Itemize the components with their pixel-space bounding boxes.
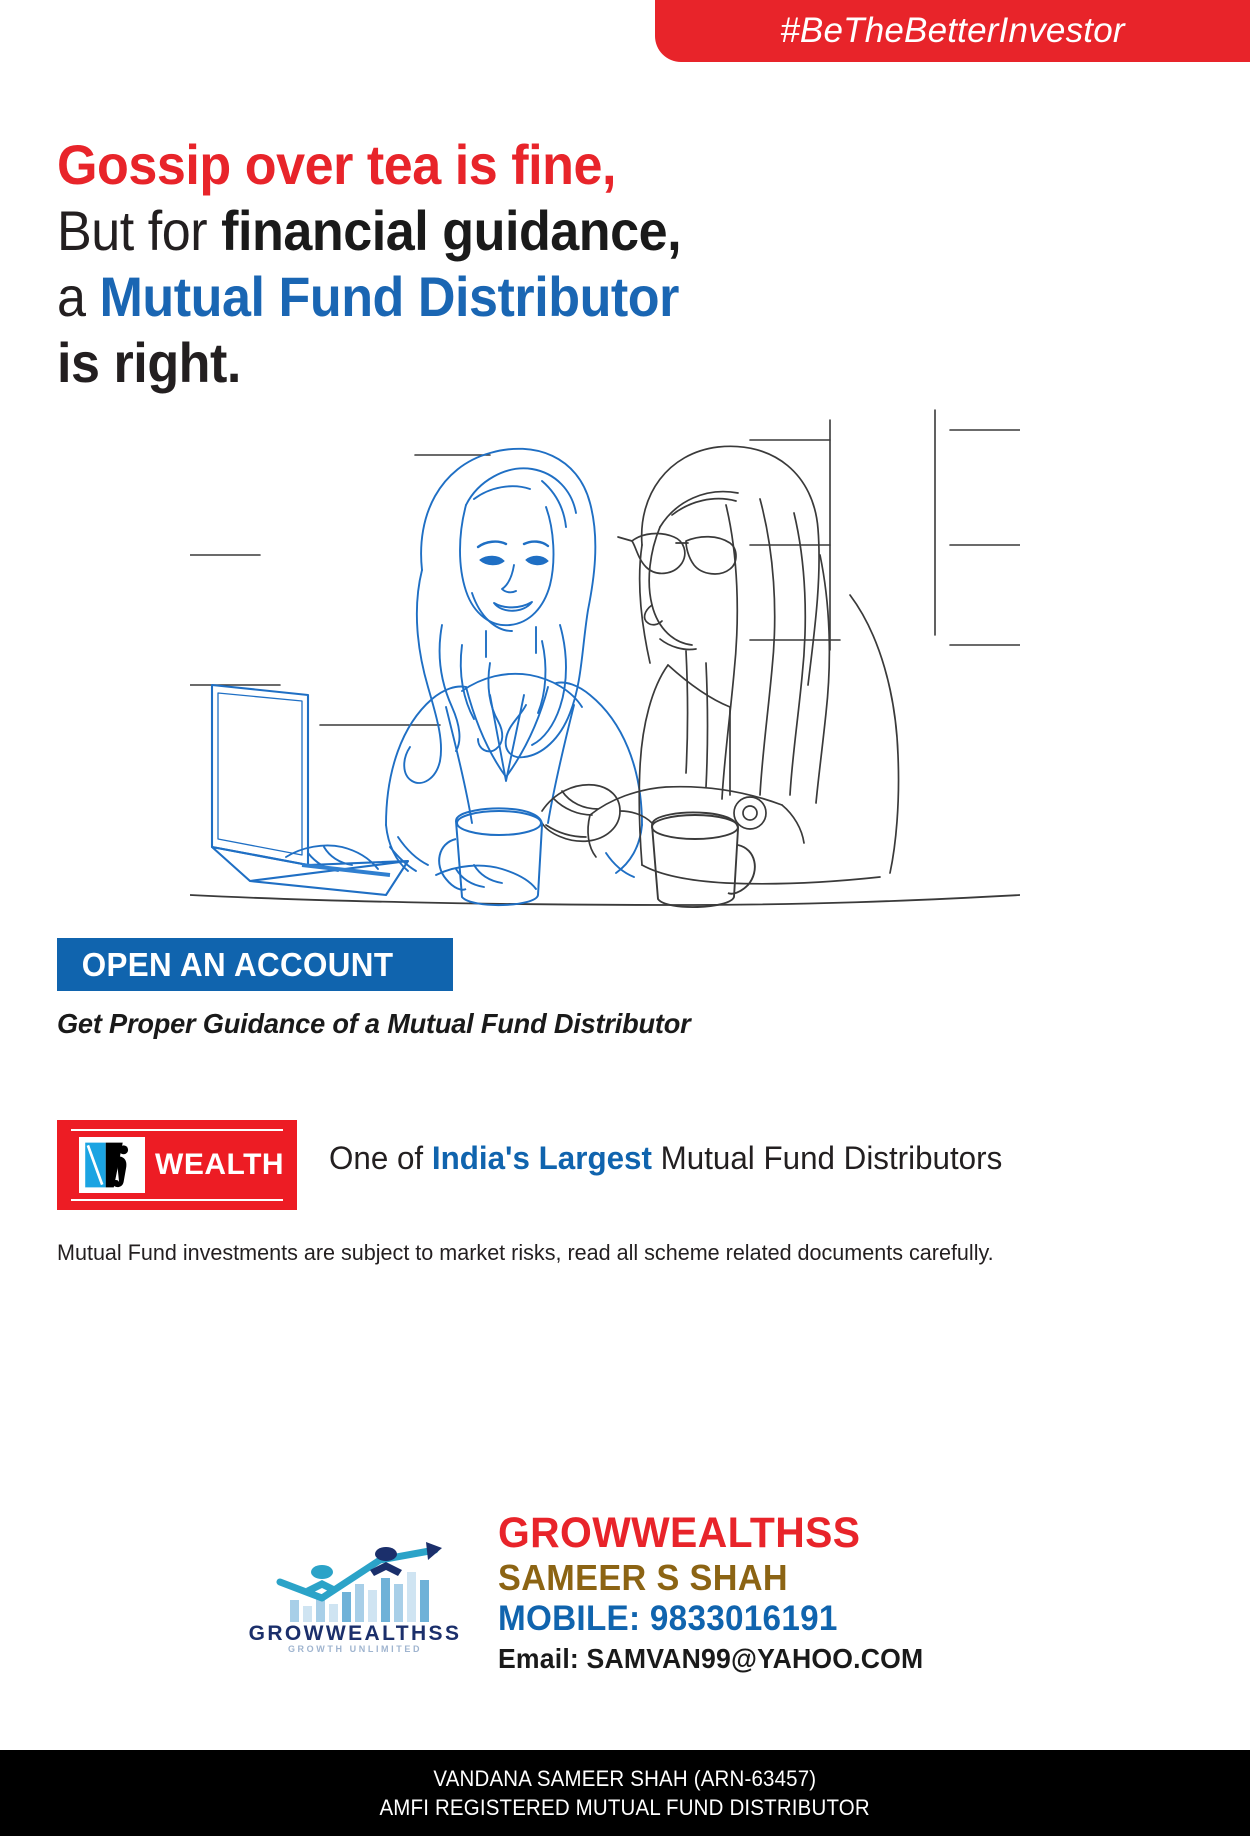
cup-left bbox=[439, 809, 542, 906]
footer-line-1: VANDANA SAMEER SHAH (ARN-63457) bbox=[434, 1764, 817, 1793]
nj-wealth-logo: WEALTH bbox=[57, 1120, 297, 1210]
nj-tagline: One of India's Largest Mutual Fund Distr… bbox=[329, 1140, 1002, 1177]
desk-edge bbox=[190, 895, 1020, 905]
risk-disclaimer: Mutual Fund investments are subject to m… bbox=[57, 1240, 994, 1266]
footer-bar: VANDANA SAMEER SHAH (ARN-63457) AMFI REG… bbox=[0, 1750, 1250, 1836]
growwealthss-logo-tagline: GROWTH UNLIMITED bbox=[288, 1644, 422, 1654]
background-wall-lines bbox=[190, 410, 1020, 725]
footer-line-2: AMFI REGISTERED MUTUAL FUND DISTRIBUTOR bbox=[380, 1793, 870, 1822]
contact-text-lines: GROWWEALTHSS SAMEER S SHAH MOBILE: 98330… bbox=[498, 1510, 946, 1676]
figure-left bbox=[306, 1565, 338, 1594]
hashtag-text: #BeTheBetterInvestor bbox=[780, 11, 1124, 51]
nj-logo-rule-bottom bbox=[71, 1199, 283, 1201]
contact-block: GROWWEALTHSS GROWTH UNLIMITED GROWWEALTH… bbox=[230, 1510, 1020, 1740]
headline-line-2-bold: financial guidance, bbox=[221, 199, 681, 262]
laptop bbox=[212, 685, 408, 895]
contact-brand: GROWWEALTHSS bbox=[498, 1510, 923, 1556]
illustration-two-women-at-desk bbox=[190, 395, 1020, 940]
growwealthss-logo-icon: GROWWEALTHSS GROWTH UNLIMITED bbox=[230, 1540, 480, 1655]
headline-line-3-bold: Mutual Fund Distributor bbox=[100, 265, 679, 328]
contact-mobile[interactable]: MOBILE: 9833016191 bbox=[498, 1599, 923, 1639]
nj-wealth-row: WEALTH One of India's Largest Mutual Fun… bbox=[57, 1120, 1197, 1210]
nj-tagline-after: Mutual Fund Distributors bbox=[652, 1140, 1002, 1176]
poster-root: #BeTheBetterInvestor Gossip over tea is … bbox=[0, 0, 1250, 1836]
open-an-account-label: OPEN AN ACCOUNT bbox=[57, 946, 393, 984]
nj-logo-rule-top bbox=[71, 1129, 283, 1131]
nj-monogram-icon bbox=[79, 1137, 145, 1193]
contact-person-name: SAMEER S SHAH bbox=[498, 1558, 923, 1598]
nj-wealth-word: WEALTH bbox=[155, 1148, 284, 1182]
headline-line-3-plain: a bbox=[57, 265, 100, 328]
headline-line-1: Gossip over tea is fine, bbox=[57, 132, 764, 198]
hashtag-ribbon: #BeTheBetterInvestor bbox=[655, 0, 1250, 62]
open-an-account-button[interactable]: OPEN AN ACCOUNT bbox=[57, 938, 453, 991]
contact-email[interactable]: Email: SAMVAN99@YAHOO.COM bbox=[498, 1642, 923, 1676]
headline-line-2-plain: But for bbox=[57, 199, 221, 262]
cup-right bbox=[652, 813, 755, 908]
headline-line-4: is right. bbox=[57, 330, 764, 396]
growth-arrow-head bbox=[426, 1542, 442, 1560]
nj-tagline-before: One of bbox=[329, 1140, 432, 1176]
headline-line-2: But for financial guidance, bbox=[57, 198, 764, 264]
nj-tagline-highlight: India's Largest bbox=[432, 1140, 652, 1176]
growwealthss-logo-word: GROWWEALTHSS bbox=[249, 1622, 462, 1645]
cta-subtitle: Get Proper Guidance of a Mutual Fund Dis… bbox=[57, 1008, 691, 1040]
headline-line-3: a Mutual Fund Distributor bbox=[57, 264, 764, 330]
headline-block: Gossip over tea is fine, But for financi… bbox=[57, 132, 817, 396]
